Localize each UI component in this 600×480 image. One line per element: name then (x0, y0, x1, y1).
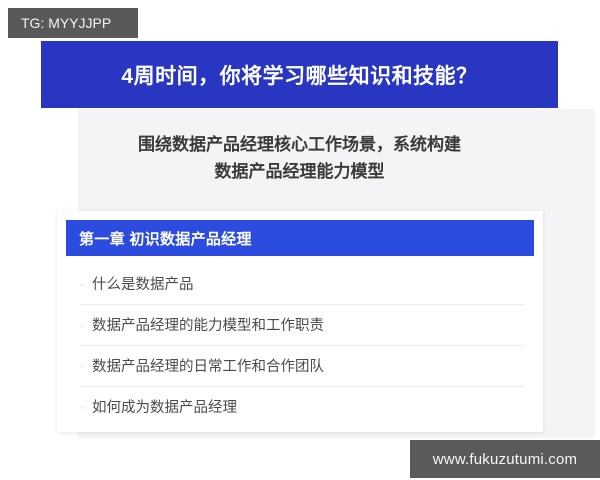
bullet-icon: · (80, 319, 88, 331)
lesson-label: 数据产品经理的能力模型和工作职责 (88, 314, 324, 335)
subtitle: 围绕数据产品经理核心工作场景，系统构建 数据产品经理能力模型 (41, 131, 558, 185)
subtitle-line-2: 数据产品经理能力模型 (41, 158, 558, 185)
lesson-label: 什么是数据产品 (88, 273, 194, 294)
lesson-label: 数据产品经理的日常工作和合作团队 (88, 355, 324, 376)
list-item[interactable]: · 如何成为数据产品经理 (66, 386, 534, 427)
list-item[interactable]: · 数据产品经理的能力模型和工作职责 (66, 304, 534, 345)
bullet-icon: · (80, 278, 88, 290)
tg-badge-label: TG: MYYJJPP (8, 15, 111, 31)
watermark-label: www.fukuzutumi.com (433, 451, 577, 468)
chapter-card: 第一章 初识数据产品经理 · 什么是数据产品 · 数据产品经理的能力模型和工作职… (57, 211, 543, 432)
bullet-icon: · (80, 401, 88, 413)
chapter-title: 第一章 初识数据产品经理 (66, 228, 252, 249)
subtitle-line-1: 围绕数据产品经理核心工作场景，系统构建 (41, 131, 558, 158)
bullet-icon: · (80, 360, 88, 372)
list-item[interactable]: · 数据产品经理的日常工作和合作团队 (66, 345, 534, 386)
tg-badge: TG: MYYJJPP (8, 8, 138, 38)
chapter-header-bar: 第一章 初识数据产品经理 (66, 220, 534, 256)
lesson-list: · 什么是数据产品 · 数据产品经理的能力模型和工作职责 · 数据产品经理的日常… (66, 263, 534, 427)
watermark: www.fukuzutumi.com (410, 440, 600, 478)
lesson-label: 如何成为数据产品经理 (88, 396, 237, 417)
title-banner: 4周时间，你将学习哪些知识和技能？ (41, 41, 558, 108)
list-item[interactable]: · 什么是数据产品 (66, 263, 534, 304)
page-title: 4周时间，你将学习哪些知识和技能？ (121, 60, 477, 90)
